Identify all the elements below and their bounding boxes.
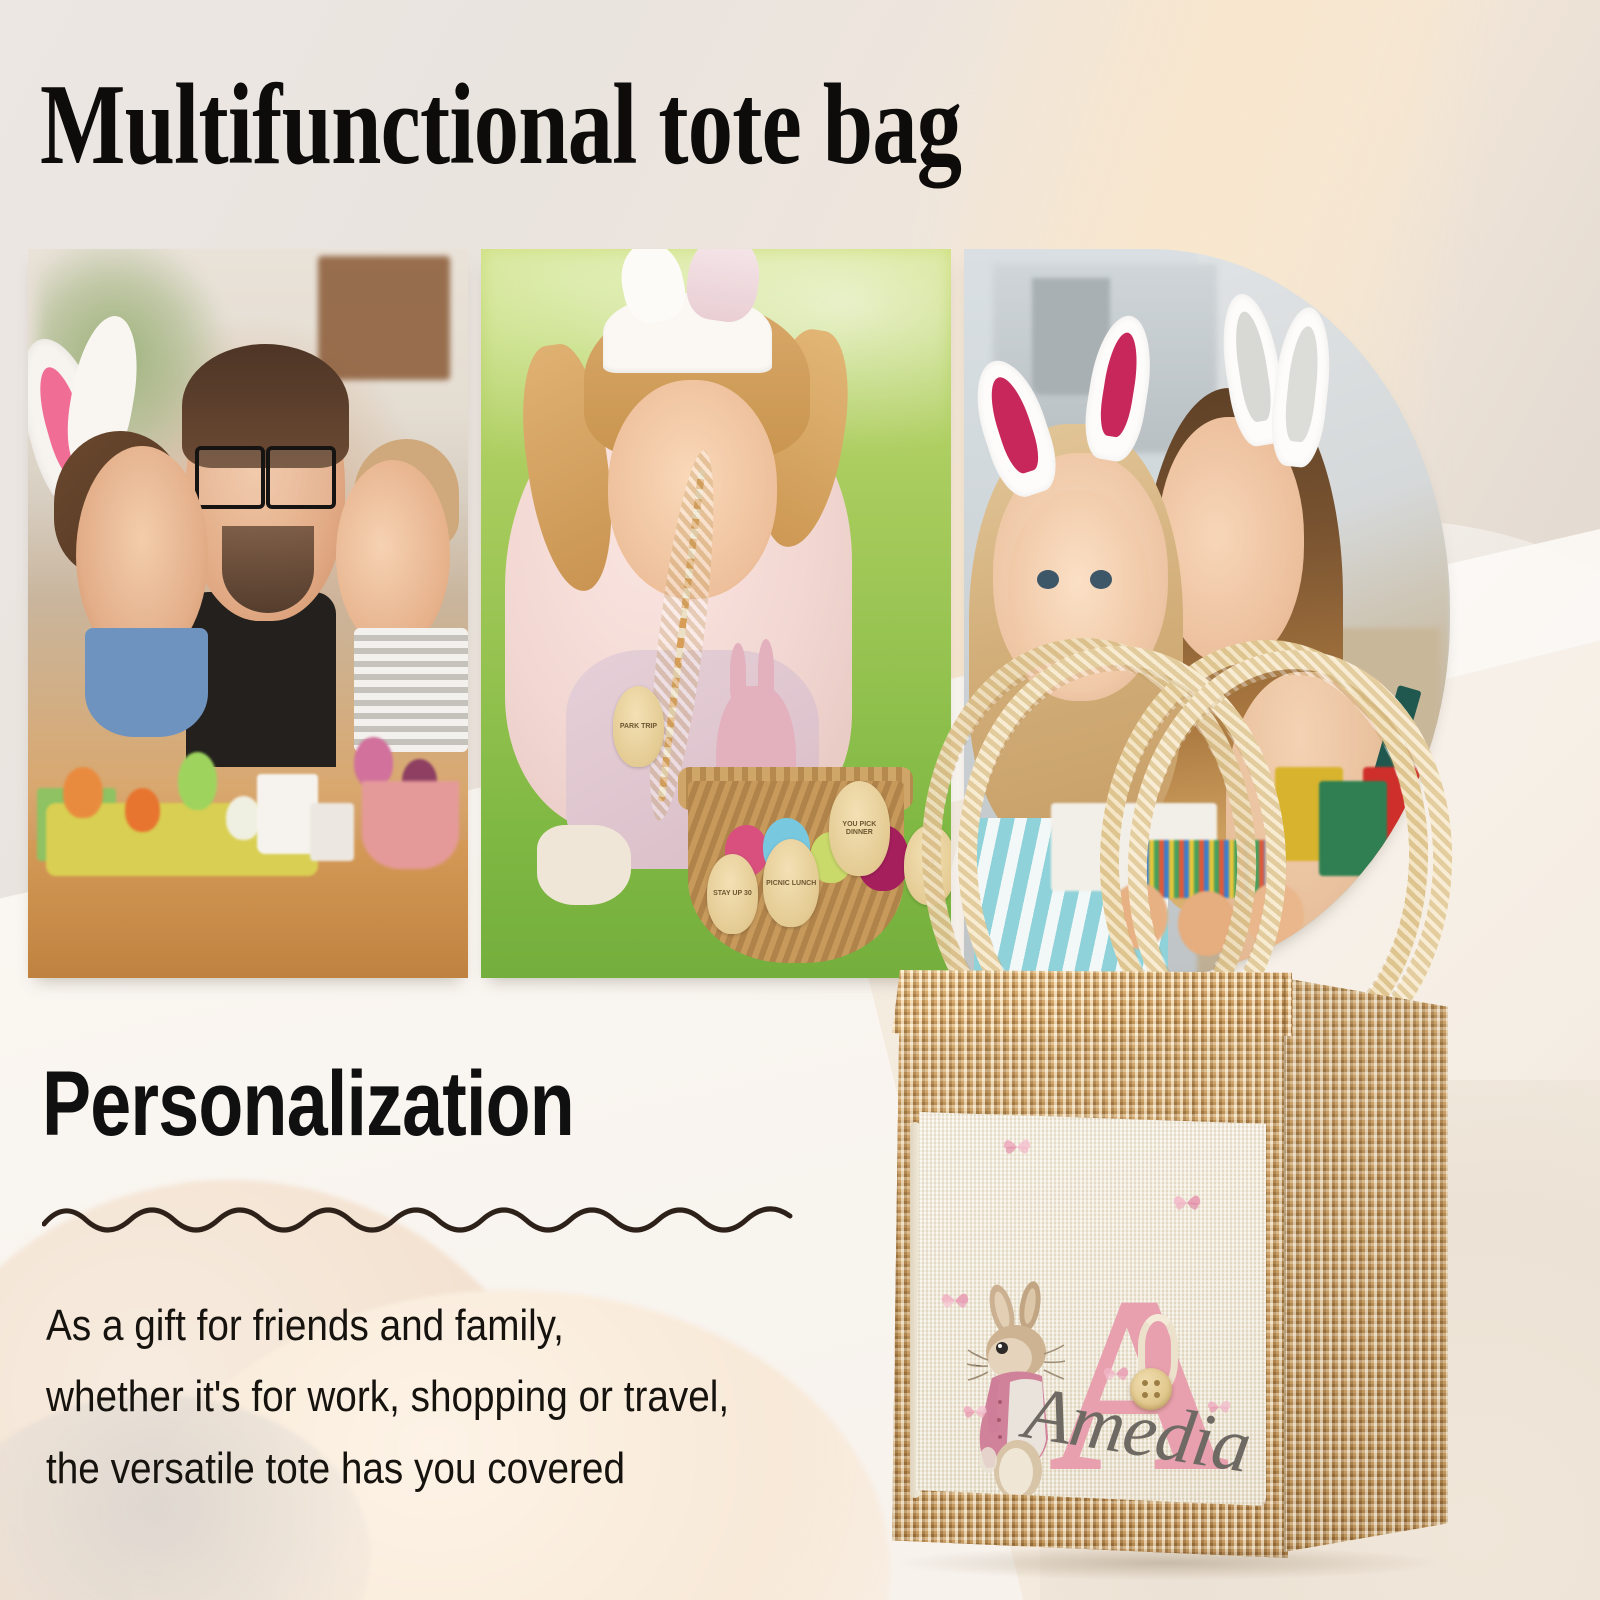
- body-line-1: As a gift for friends and family,: [46, 1290, 785, 1361]
- wooden-button: [1130, 1368, 1172, 1410]
- bag-body: A: [892, 972, 1448, 1564]
- wave-divider: [42, 1192, 802, 1238]
- body-line-2: whether it's for work, shopping or trave…: [46, 1361, 785, 1432]
- egg-token-stay-up: STAY UP 30: [707, 854, 759, 934]
- personalized-canvas-panel: A: [916, 1108, 1266, 1506]
- bag-drop-shadow: [896, 1546, 1436, 1580]
- butterfly-icon: [1172, 1190, 1202, 1216]
- section-heading: Personalization: [42, 1058, 574, 1150]
- butterfly-icon: [1002, 1134, 1032, 1160]
- egg-token-picnic-lunch: PICNIC LUNCH: [763, 839, 819, 926]
- page-title: Multifunctional tote bag: [40, 66, 1085, 184]
- product-infographic: Multifunctional tote bag: [0, 0, 1600, 1600]
- bag-side-gusset: [1284, 978, 1448, 1552]
- body-copy: As a gift for friends and family, whethe…: [46, 1290, 785, 1504]
- bag-seam-mid: [1192, 976, 1194, 1116]
- egg-token-park-trip: PARK TRIP: [613, 686, 665, 766]
- bag-top-band: [892, 970, 1292, 1036]
- photo-family-table: [28, 249, 468, 978]
- butterfly-icon: [962, 1400, 988, 1424]
- bag-seam-right: [1284, 978, 1286, 1552]
- body-line-3: the versatile tote has you covered: [46, 1433, 785, 1504]
- butterfly-icon: [940, 1288, 970, 1314]
- bag-seam-left: [988, 974, 990, 1124]
- tote-bag-product-image: A: [870, 616, 1470, 1564]
